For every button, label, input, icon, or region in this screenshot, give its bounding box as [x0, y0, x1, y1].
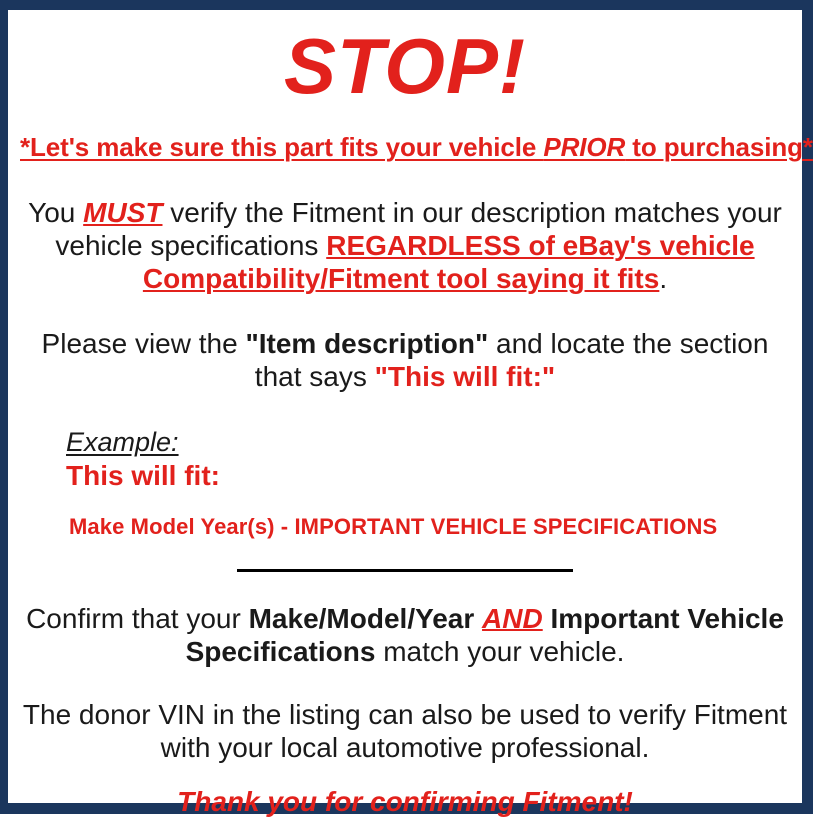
confirm-part3: [543, 603, 551, 634]
itemdesc-part1: Please view the: [42, 328, 246, 359]
example-this-will-fit: This will fit:: [66, 460, 790, 492]
thank-you-line: Thank you for confirming Fitment!: [20, 786, 790, 818]
item-description-paragraph: Please view the "Item description" and l…: [20, 327, 790, 393]
fitment-notice-card: STOP! *Let's make sure this part fits yo…: [0, 0, 813, 814]
example-block: Example: This will fit: Make Model Year(…: [20, 427, 790, 540]
must-emphasis: MUST: [83, 197, 162, 228]
confirm-part1: Confirm that your: [26, 603, 249, 634]
vin-paragraph: The donor VIN in the listing can also be…: [20, 698, 790, 764]
make-model-year-emphasis: Make/Model/Year: [249, 603, 475, 634]
example-spec-line: Make Model Year(s) - IMPORTANT VEHICLE S…: [69, 514, 790, 540]
confirm-part4: match your vehicle.: [375, 636, 624, 667]
section-divider: [237, 569, 573, 572]
tagline-lead: *Let's make sure this part fits your veh…: [20, 132, 543, 162]
example-label: Example:: [66, 427, 179, 458]
itemdesc-emphasis: "Item description": [245, 328, 488, 359]
confirm-part2: [474, 603, 482, 634]
stop-heading: STOP!: [20, 10, 790, 108]
must-part1: You: [28, 197, 83, 228]
example-label-row: Example:: [66, 427, 790, 458]
tagline-emphasis-prior: PRIOR: [543, 132, 625, 162]
this-will-fit-emphasis: "This will fit:": [375, 361, 556, 392]
tagline: *Let's make sure this part fits your veh…: [20, 132, 790, 162]
divider-row: [20, 562, 790, 580]
must-verify-paragraph: You MUST verify the Fitment in our descr…: [20, 196, 790, 295]
notice-body: STOP! *Let's make sure this part fits yo…: [8, 10, 802, 803]
tagline-tail: to purchasing*: [625, 132, 813, 162]
confirm-paragraph: Confirm that your Make/Model/Year AND Im…: [20, 602, 790, 668]
must-part3: .: [659, 263, 667, 294]
and-emphasis: AND: [482, 603, 543, 634]
